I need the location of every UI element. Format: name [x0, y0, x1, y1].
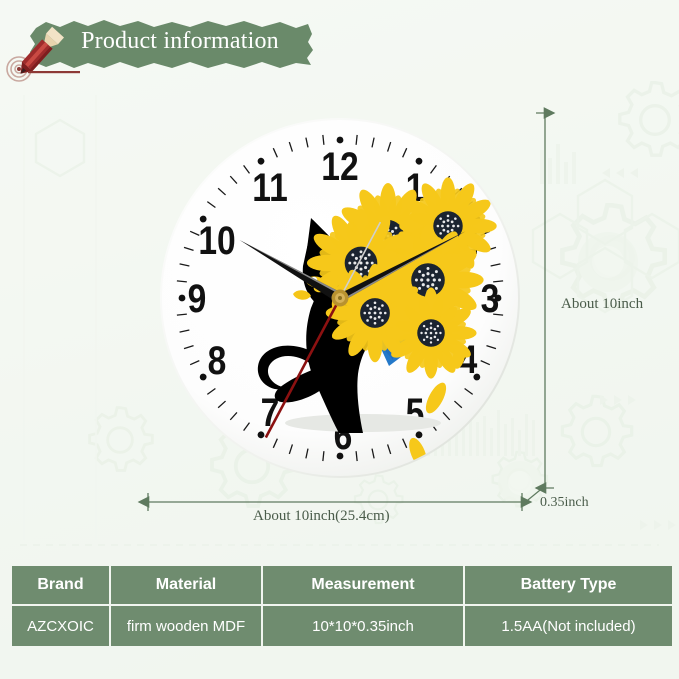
clock-illustration: 12 1 2 3 4 5 6 7 8 9 10 11: [153, 108, 528, 483]
table-cell-material: firm wooden MDF: [111, 606, 261, 646]
dimension-thickness-label: 0.35inch: [540, 495, 589, 511]
svg-text:9: 9: [188, 276, 207, 320]
table-header-brand: Brand: [12, 566, 109, 604]
svg-text:8: 8: [208, 338, 227, 382]
svg-text:10: 10: [198, 218, 235, 262]
table-cell-brand: AZCXOIC: [12, 606, 109, 646]
wall-clock-product-photo: 12 1 2 3 4 5 6 7 8 9 10 11: [153, 108, 528, 483]
table-header-row: Brand Material Measurement Battery Type: [12, 566, 672, 604]
svg-text:3: 3: [481, 276, 500, 320]
specification-table: Brand Material Measurement Battery Type …: [10, 564, 674, 648]
page-title: Product information: [60, 28, 300, 55]
dimension-vertical-label: About 10inch: [561, 296, 643, 313]
dimension-horizontal-label: About 10inch(25.4cm): [253, 508, 390, 525]
table-cell-measurement: 10*10*0.35inch: [263, 606, 463, 646]
svg-text:12: 12: [321, 144, 358, 188]
pencil-icon: [2, 22, 80, 84]
table-cell-battery: 1.5AA(Not included): [465, 606, 672, 646]
svg-text:11: 11: [252, 165, 288, 209]
product-information-page: Product information: [0, 0, 679, 679]
table-header-material: Material: [111, 566, 261, 604]
table-header-battery: Battery Type: [465, 566, 672, 604]
dimension-vertical: [536, 113, 554, 488]
page-title-banner: Product information: [22, 18, 312, 73]
table-row: AZCXOIC firm wooden MDF 10*10*0.35inch 1…: [12, 606, 672, 646]
table-header-measurement: Measurement: [263, 566, 463, 604]
